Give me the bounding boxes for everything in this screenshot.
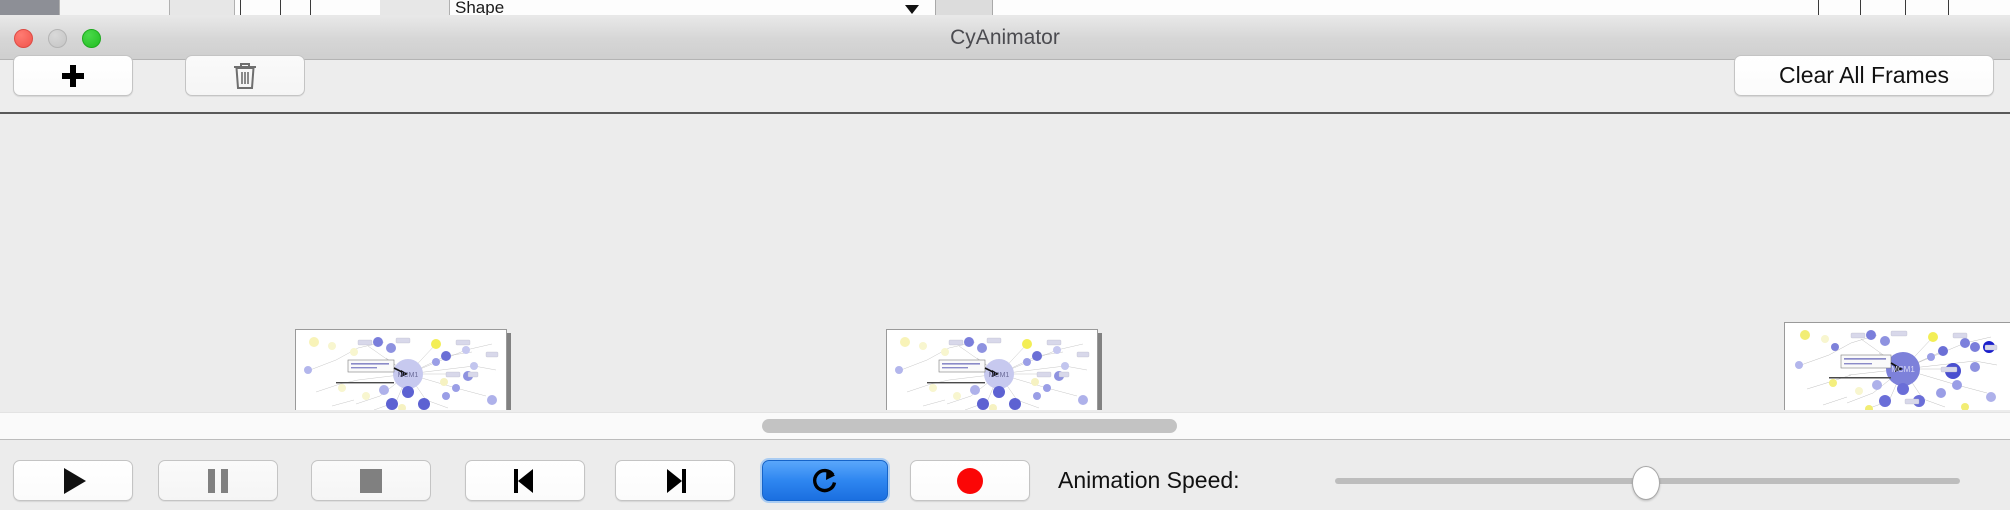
svg-text:MCM1: MCM1	[398, 372, 419, 379]
pause-icon	[208, 469, 228, 493]
timeline-scrollbar-thumb[interactable]	[762, 419, 1177, 433]
trash-icon	[232, 61, 258, 91]
loop-button[interactable]	[762, 460, 888, 501]
delete-frame-button[interactable]	[185, 55, 305, 96]
add-frame-button[interactable]	[13, 55, 133, 96]
clear-all-frames-button[interactable]: Clear All Frames	[1734, 55, 1994, 96]
play-icon	[64, 468, 86, 494]
timeline-frame-3[interactable]: MCM1	[1784, 322, 2010, 410]
next-frame-button[interactable]	[615, 460, 735, 501]
play-button[interactable]	[13, 460, 133, 501]
bg-tab-3	[170, 0, 235, 15]
previous-frame-button[interactable]	[465, 460, 585, 501]
bg-tab-5	[935, 0, 993, 15]
network-thumbnail-3: MCM1	[1785, 323, 2010, 410]
clear-all-frames-label: Clear All Frames	[1779, 62, 1949, 89]
skip-forward-icon	[664, 469, 686, 493]
record-icon	[957, 468, 983, 494]
bg-tab-4	[380, 0, 450, 15]
plus-icon	[62, 65, 84, 87]
stop-button[interactable]	[311, 460, 431, 501]
bg-window-label: Shape	[455, 1, 504, 15]
stop-icon	[360, 469, 382, 493]
timeline-frame-1[interactable]: MCM1	[295, 329, 507, 410]
bg-caret-icon	[905, 5, 919, 14]
animation-speed-label: Animation Speed:	[1058, 460, 1240, 501]
svg-text:MCM1: MCM1	[1891, 365, 1915, 374]
network-thumbnail-2: MCM1	[887, 330, 1097, 410]
bg-tab-2	[60, 0, 170, 15]
background-window-strip: Shape	[0, 0, 2010, 16]
pause-button[interactable]	[158, 460, 278, 501]
record-button[interactable]	[910, 460, 1030, 501]
svg-text:MCM1: MCM1	[989, 372, 1010, 379]
network-thumbnail-1: MCM1	[296, 330, 506, 410]
window-titlebar[interactable]: CyAnimator	[0, 15, 2010, 60]
page-title: CyAnimator	[0, 15, 2010, 60]
timeline-frame-2[interactable]: MCM1	[886, 329, 1098, 410]
loop-icon	[810, 466, 840, 496]
animation-speed-slider-knob[interactable]	[1632, 466, 1660, 500]
skip-back-icon	[514, 469, 536, 493]
bg-tab-1	[0, 0, 60, 15]
timeline-panel[interactable]: MCM1	[0, 114, 2010, 410]
